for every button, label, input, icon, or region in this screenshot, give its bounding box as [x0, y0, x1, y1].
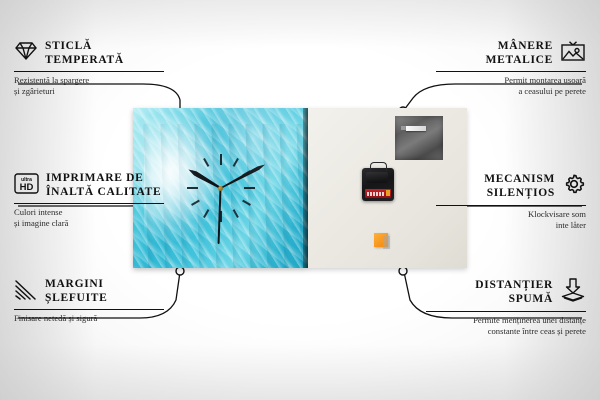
clock-center-cap [218, 186, 223, 191]
callout-foam-spacer: DISTANȚIER SPUMĂ Permite menținerea unei… [426, 278, 586, 336]
callout-subtitle-line2: inte låter [556, 220, 586, 230]
product-image [133, 108, 467, 268]
callout-subtitle-line2: și zgârieturi [14, 86, 55, 96]
callout-subtitle-line1: Finisare netedă și sigură [14, 313, 97, 323]
ultra-hd-icon: ultra HD [14, 173, 39, 199]
callout-metal-handles: MÂNERE METALICE Permit montarea ușoară a… [436, 40, 586, 96]
callout-rule [426, 311, 586, 312]
endpoint-polished-edges [176, 267, 184, 275]
callout-subtitle-line1: Klockvisare som [528, 209, 586, 219]
callout-subtitle-line2: constante între ceas și perete [488, 326, 586, 336]
callout-tempered-glass: STICLĂ TEMPERATĂ Rezistentă la spargere … [14, 40, 164, 96]
callout-print-quality: ultra HD IMPRIMARE DE ÎNALTĂ CALITATE Cu… [14, 172, 164, 228]
callout-title-line2: ȘLEFUITE [45, 292, 107, 304]
ultra-hd-icon-large-text: HD [20, 182, 34, 193]
endpoint-foam-spacer [399, 267, 407, 275]
battery [365, 189, 391, 198]
callout-title-line2: TEMPERATĂ [45, 54, 124, 66]
callout-subtitle-line2: a ceasului pe perete [518, 86, 586, 96]
diamond-icon [14, 41, 38, 66]
callout-rule [436, 71, 586, 72]
quartz-mechanism [362, 168, 394, 201]
callout-subtitle-line1: Permite menținerea unei distanțe [473, 315, 586, 325]
callout-title-line2: SPUMĂ [509, 293, 553, 305]
gear-icon [562, 172, 586, 201]
callout-subtitle-line2: și imagine clară [14, 218, 68, 228]
callout-title-line2: ÎNALTĂ CALITATE [46, 186, 161, 198]
callout-title-line1: DISTANȚIER [475, 279, 553, 291]
callout-subtitle-line1: Permit montarea ușoară [504, 75, 586, 85]
callout-rule [14, 309, 164, 310]
press-down-pad-icon [560, 278, 586, 307]
callout-title-line2: SILENȚIOS [487, 187, 555, 199]
callout-polished-edges: MARGINI ȘLEFUITE Finisare netedă și sigu… [14, 278, 164, 324]
callout-subtitle-line1: Rezistentă la spargere [14, 75, 89, 85]
callout-title-line1: MÂNERE [498, 40, 553, 52]
callout-subtitle-line1: Culori intense [14, 207, 62, 217]
callout-title-line2: METALICE [486, 54, 553, 66]
callout-title-line1: IMPRIMARE DE [46, 172, 144, 184]
foam-spacer [374, 233, 388, 247]
callout-title-line1: STICLĂ [45, 40, 92, 52]
callout-rule [14, 71, 164, 72]
beveled-edge-icon [14, 279, 38, 305]
picture-hanger-icon [560, 40, 586, 67]
callout-title-line1: MARGINI [45, 278, 104, 290]
callout-rule [14, 203, 164, 204]
callout-silent-mechanism: MECANISM SILENȚIOS Klockvisare som inte … [436, 172, 586, 230]
metal-hanger [395, 116, 443, 160]
infographic-canvas: STICLĂ TEMPERATĂ Rezistentă la spargere … [0, 0, 600, 400]
callout-rule [436, 205, 586, 206]
callout-title-line1: MECANISM [484, 173, 555, 185]
